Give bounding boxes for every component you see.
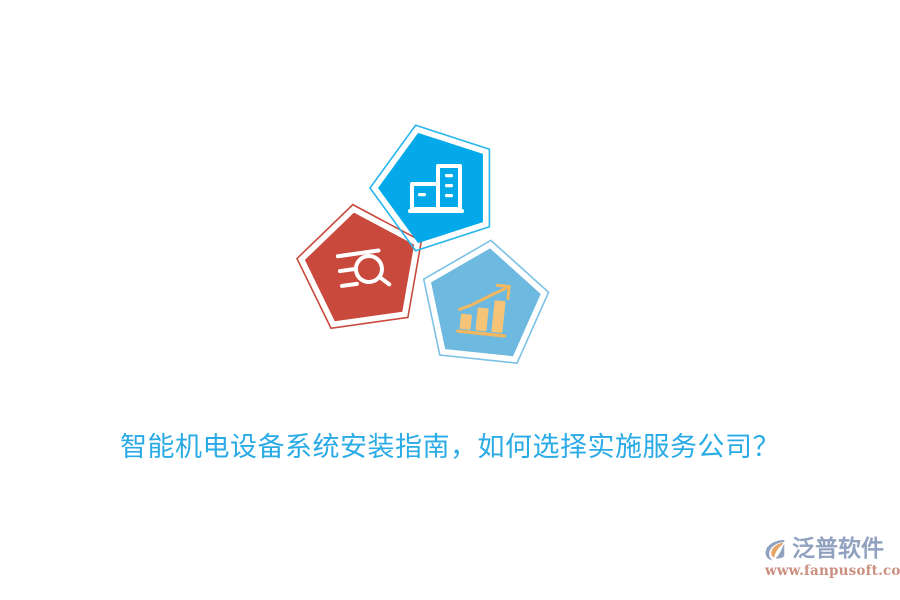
pentagon-bar-chart bbox=[416, 234, 553, 366]
brand-watermark: 泛普软件 www.fanpusoft.com bbox=[762, 533, 896, 585]
hero-graphic bbox=[280, 110, 580, 410]
fanpu-c-mark-icon bbox=[762, 536, 789, 563]
brand-url: www.fanpusoft.com bbox=[765, 563, 900, 579]
page-canvas: 智能机电设备系统安装指南，如何选择实施服务公司？ 泛普软件 www.fanpus… bbox=[0, 0, 900, 600]
brand-name: 泛普软件 bbox=[792, 536, 884, 563]
brand-row: 泛普软件 bbox=[762, 533, 884, 565]
page-title: 智能机电设备系统安装指南，如何选择实施服务公司？ bbox=[0, 428, 900, 468]
